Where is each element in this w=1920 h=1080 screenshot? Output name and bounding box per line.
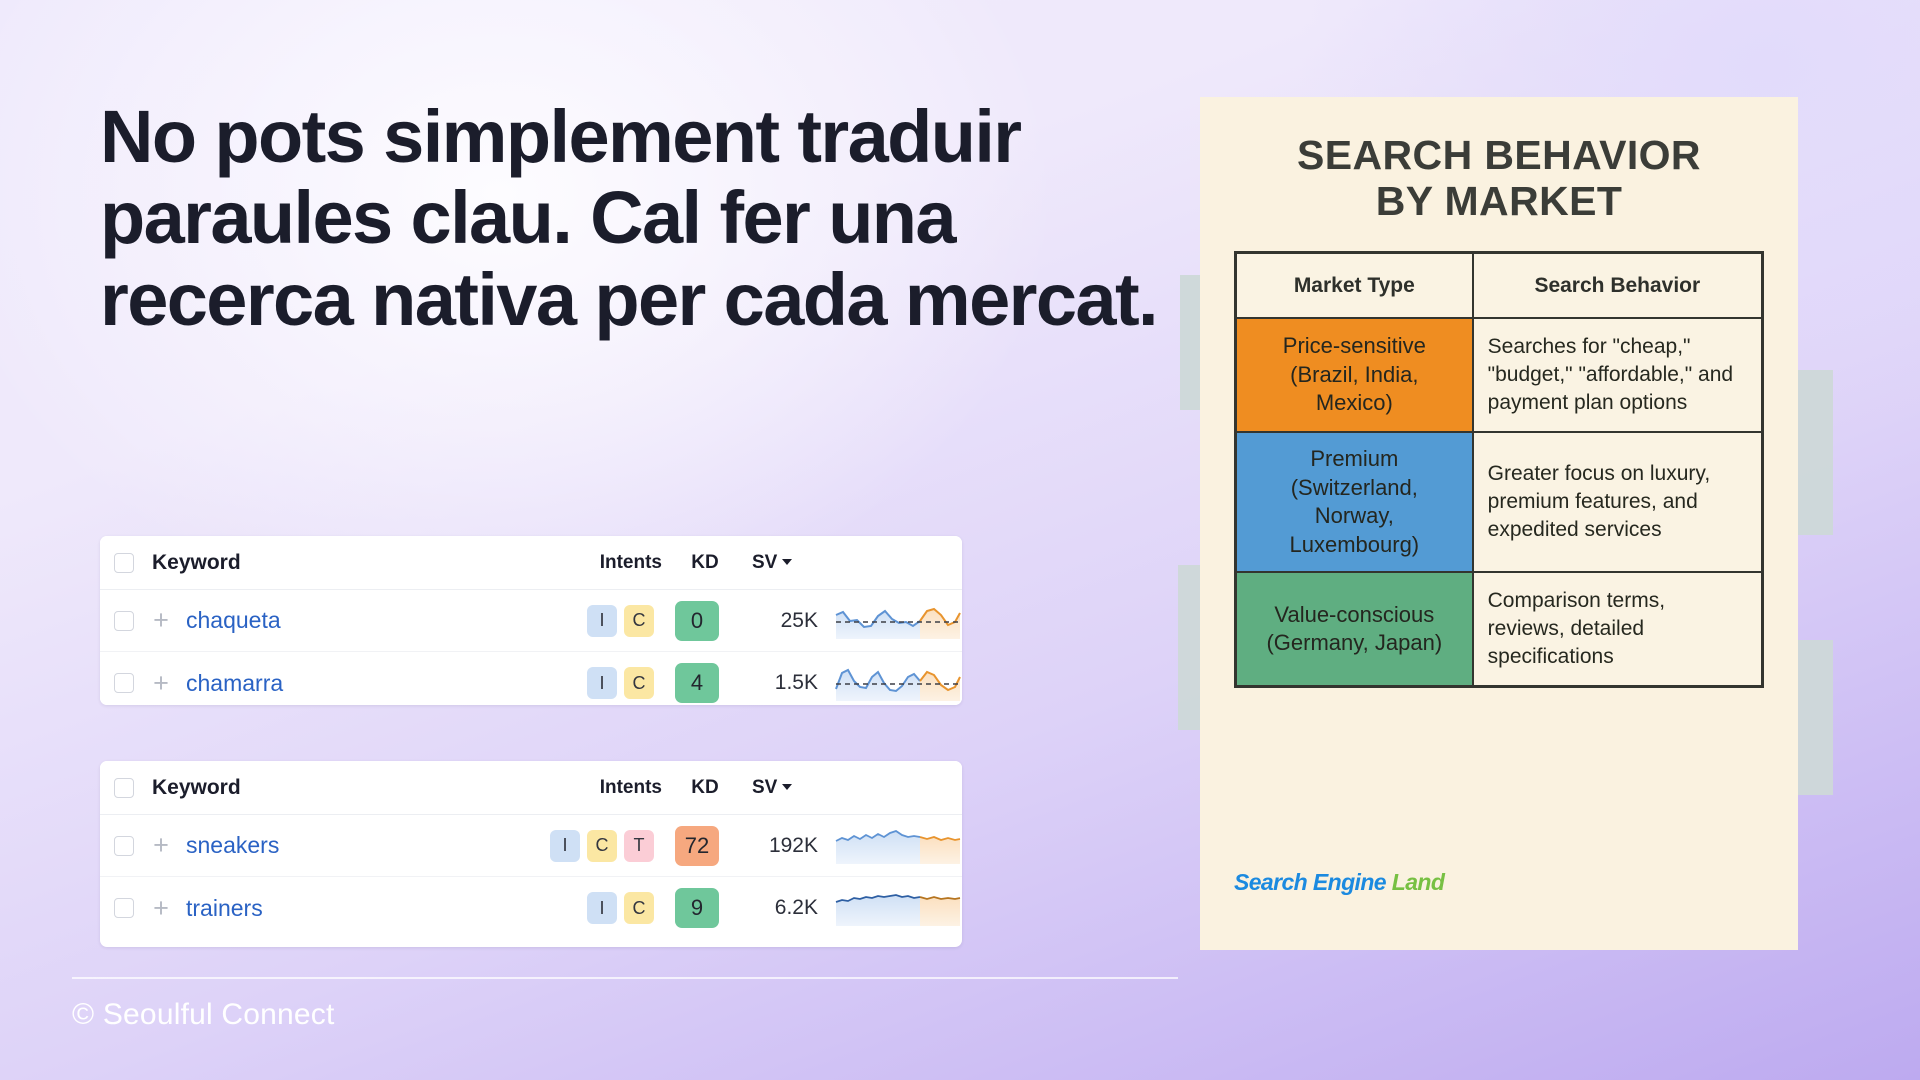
- trend-sparkline: [822, 886, 962, 930]
- column-header-keyword[interactable]: Keyword: [134, 776, 536, 800]
- intent-badge-informational[interactable]: I: [587, 892, 617, 924]
- keyword-link[interactable]: chaqueta: [178, 607, 528, 634]
- market-table-body: Price-sensitive (Brazil, India, Mexico) …: [1236, 318, 1763, 686]
- logo-text-secondary: Land: [1392, 869, 1445, 895]
- search-engine-land-logo: Search Engine Land: [1234, 869, 1444, 896]
- kd-score-badge: 72: [675, 826, 719, 866]
- column-header-sv[interactable]: SV: [742, 552, 830, 574]
- row-checkbox[interactable]: [114, 611, 134, 631]
- sort-desc-icon: [782, 559, 792, 565]
- market-type-line: Value-conscious: [1245, 601, 1464, 630]
- add-keyword-icon[interactable]: +: [144, 895, 178, 922]
- market-table-col-market-type: Market Type: [1236, 252, 1473, 318]
- market-type-line: Premium: [1245, 445, 1464, 474]
- table-header-row: Keyword Intents KD SV: [100, 536, 962, 590]
- add-keyword-icon[interactable]: +: [144, 832, 178, 859]
- table-row[interactable]: + trainers I C 9 6.2K: [100, 877, 962, 939]
- intent-badge-informational[interactable]: I: [550, 830, 580, 862]
- kd-cell: 9: [660, 888, 734, 928]
- search-volume-value: 192K: [734, 834, 822, 858]
- intent-badge-commercial[interactable]: C: [587, 830, 617, 862]
- market-type-line: Mexico): [1245, 389, 1464, 418]
- intent-badge-informational[interactable]: I: [587, 605, 617, 637]
- market-type-value-conscious: Value-conscious (Germany, Japan): [1236, 572, 1473, 686]
- keyword-link[interactable]: sneakers: [178, 832, 528, 859]
- page-title: No pots simplement traduir paraules clau…: [100, 96, 1160, 340]
- search-behavior-value-conscious: Comparison terms, reviews, detailed spec…: [1473, 572, 1763, 686]
- market-type-line: (Switzerland,: [1245, 474, 1464, 503]
- market-type-line: Luxembourg): [1245, 531, 1464, 560]
- trend-sparkline: [822, 824, 962, 868]
- column-header-kd[interactable]: KD: [668, 777, 742, 799]
- kd-cell: 72: [660, 826, 734, 866]
- column-header-sv-label: SV: [752, 552, 777, 573]
- kd-cell: 0: [660, 601, 734, 641]
- row-checkbox[interactable]: [114, 673, 134, 693]
- keyword-table-2: Keyword Intents KD SV + sneakers I C T 7…: [100, 761, 962, 947]
- market-type-line: Norway,: [1245, 502, 1464, 531]
- kd-score-badge: 4: [675, 663, 719, 703]
- intent-badge-commercial[interactable]: C: [624, 667, 654, 699]
- trend-sparkline: [822, 661, 962, 705]
- intent-badges: I C: [528, 667, 660, 699]
- intent-badges: I C: [528, 892, 660, 924]
- card-title: SEARCH BEHAVIOR BY MARKET: [1234, 133, 1764, 225]
- kd-cell: 4: [660, 663, 734, 703]
- table-header-row: Keyword Intents KD SV: [100, 761, 962, 815]
- trend-sparkline: [822, 599, 962, 643]
- market-table-row-premium: Premium (Switzerland, Norway, Luxembourg…: [1236, 432, 1763, 572]
- market-type-line: Price-sensitive: [1245, 332, 1464, 361]
- left-content-column: No pots simplement traduir paraules clau…: [100, 96, 1170, 340]
- column-header-kd[interactable]: KD: [668, 552, 742, 574]
- table-row[interactable]: + chaqueta I C 0 25K: [100, 590, 962, 652]
- footer-divider: [72, 977, 1178, 979]
- add-keyword-icon[interactable]: +: [144, 607, 178, 634]
- card-title-line1: SEARCH BEHAVIOR: [1234, 133, 1764, 179]
- keyword-table-1: Keyword Intents KD SV + chaqueta I C 0 2…: [100, 536, 962, 705]
- keyword-link[interactable]: chamarra: [178, 670, 528, 697]
- market-table-header-row: Market Type Search Behavior: [1236, 252, 1763, 318]
- infographic-card-body: SEARCH BEHAVIOR BY MARKET Market Type Se…: [1200, 97, 1798, 950]
- row-checkbox[interactable]: [114, 836, 134, 856]
- logo-text-primary: Search Engine: [1234, 869, 1386, 895]
- column-header-intents[interactable]: Intents: [536, 552, 668, 574]
- select-all-checkbox[interactable]: [114, 553, 134, 573]
- market-table-row-value-conscious: Value-conscious (Germany, Japan) Compari…: [1236, 572, 1763, 686]
- column-header-sv-label: SV: [752, 777, 777, 798]
- market-type-price-sensitive: Price-sensitive (Brazil, India, Mexico): [1236, 318, 1473, 432]
- market-type-line: (Brazil, India,: [1245, 361, 1464, 390]
- market-table-head: Market Type Search Behavior: [1236, 252, 1763, 318]
- market-type-premium: Premium (Switzerland, Norway, Luxembourg…: [1236, 432, 1473, 572]
- search-behavior-price-sensitive: Searches for "cheap," "budget," "afforda…: [1473, 318, 1763, 432]
- column-header-intents[interactable]: Intents: [536, 777, 668, 799]
- market-table-row-price-sensitive: Price-sensitive (Brazil, India, Mexico) …: [1236, 318, 1763, 432]
- row-checkbox[interactable]: [114, 898, 134, 918]
- kd-score-badge: 9: [675, 888, 719, 928]
- market-behavior-table: Market Type Search Behavior Price-sensit…: [1234, 251, 1764, 688]
- add-keyword-icon[interactable]: +: [144, 670, 178, 697]
- infographic-card: SEARCH BEHAVIOR BY MARKET Market Type Se…: [1200, 97, 1798, 950]
- select-all-checkbox[interactable]: [114, 778, 134, 798]
- column-header-sv[interactable]: SV: [742, 777, 830, 799]
- intent-badge-transactional[interactable]: T: [624, 830, 654, 862]
- search-volume-value: 1.5K: [734, 671, 822, 695]
- intent-badges: I C T: [528, 830, 660, 862]
- slide-canvas: No pots simplement traduir paraules clau…: [0, 0, 1920, 1080]
- table-row[interactable]: + chamarra I C 4 1.5K: [100, 652, 962, 705]
- card-title-line2: BY MARKET: [1234, 179, 1764, 225]
- market-type-line: (Germany, Japan): [1245, 629, 1464, 658]
- keyword-link[interactable]: trainers: [178, 895, 528, 922]
- sort-desc-icon: [782, 784, 792, 790]
- search-behavior-premium: Greater focus on luxury, premium feature…: [1473, 432, 1763, 572]
- intent-badge-commercial[interactable]: C: [624, 605, 654, 637]
- table-row[interactable]: + sneakers I C T 72 192K: [100, 815, 962, 877]
- intent-badge-commercial[interactable]: C: [624, 892, 654, 924]
- kd-score-badge: 0: [675, 601, 719, 641]
- search-volume-value: 25K: [734, 609, 822, 633]
- footer-copyright: © Seoulful Connect: [72, 998, 335, 1032]
- column-header-keyword[interactable]: Keyword: [134, 551, 536, 575]
- intent-badges: I C: [528, 605, 660, 637]
- intent-badge-informational[interactable]: I: [587, 667, 617, 699]
- market-table-col-search-behavior: Search Behavior: [1473, 252, 1763, 318]
- search-volume-value: 6.2K: [734, 896, 822, 920]
